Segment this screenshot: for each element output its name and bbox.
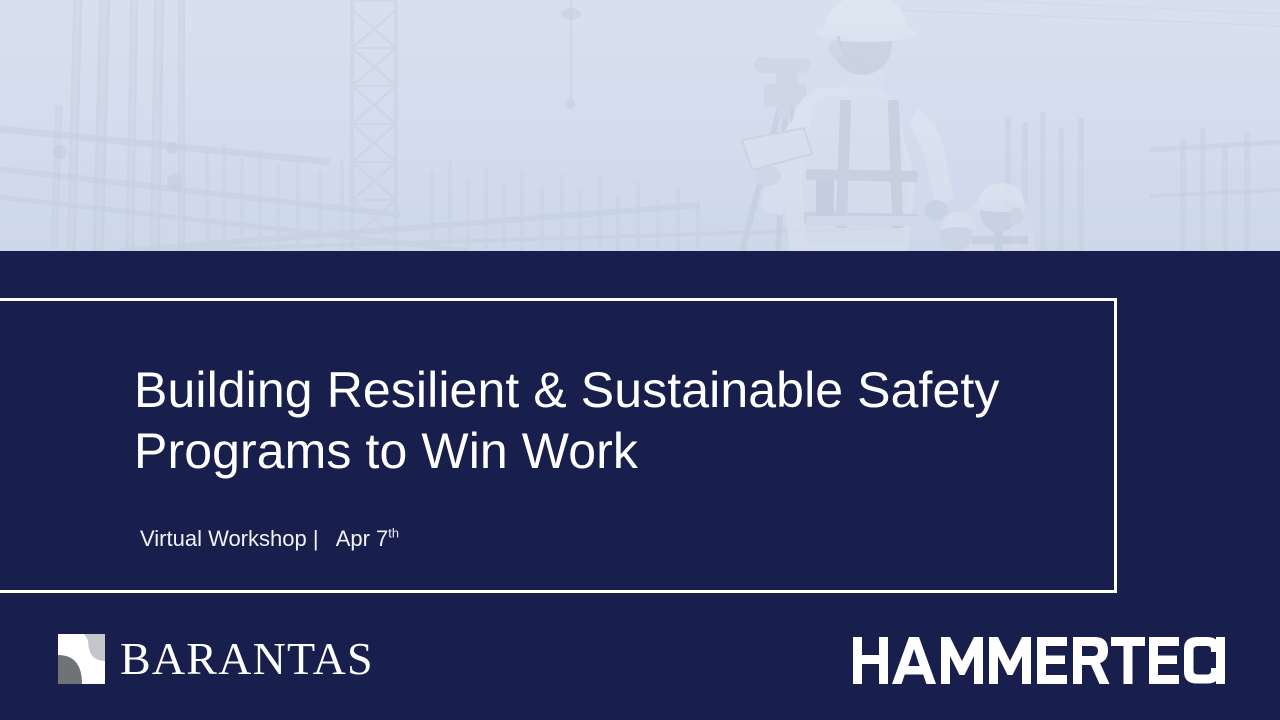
presentation-title-slide: Building Resilient & Sustainable Safety …: [0, 0, 1280, 720]
page-title: Building Resilient & Sustainable Safety …: [134, 360, 1014, 482]
hammertech-wordmark: [853, 637, 1225, 684]
barantas-square-mark-icon: [58, 634, 105, 684]
subtitle-event-date: Virtual Workshop | Apr 7th: [140, 524, 399, 554]
subtitle-event: Virtual Workshop: [140, 526, 307, 551]
hammertech-logo: [853, 637, 1225, 684]
title-line-2: Programs to Win Work: [134, 421, 1014, 482]
construction-site-photo: [0, 0, 1280, 251]
barantas-wordmark: BARANTAS: [120, 636, 374, 682]
subtitle-date-ordinal: th: [388, 526, 399, 541]
subtitle-gap: [319, 526, 336, 551]
hero-photo-band: [0, 0, 1280, 251]
barantas-logo: BARANTAS: [58, 634, 374, 684]
title-line-1: Building Resilient & Sustainable Safety: [134, 360, 1014, 421]
subtitle-date: Apr 7: [336, 526, 389, 551]
